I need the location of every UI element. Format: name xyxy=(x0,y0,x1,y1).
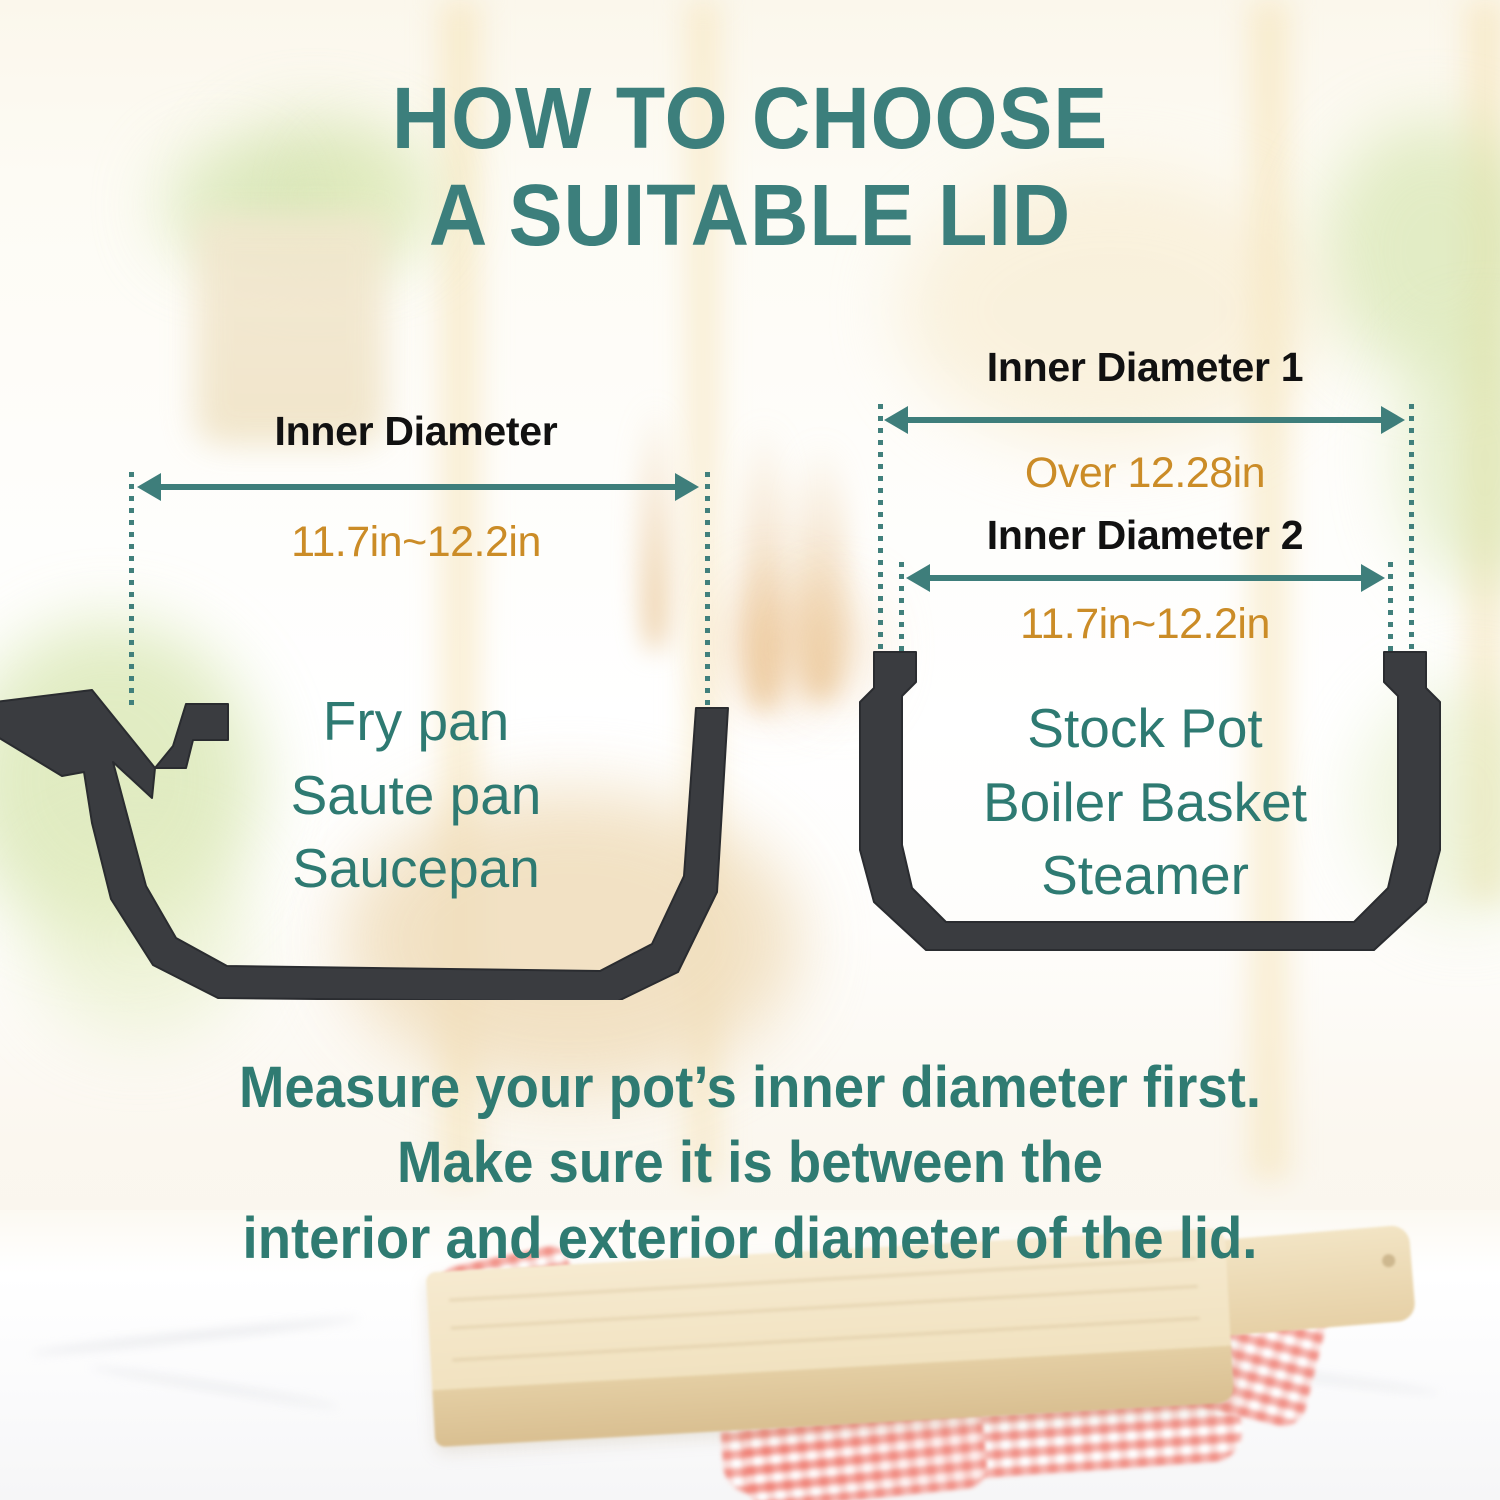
vessel-name: Stock Pot xyxy=(880,692,1410,766)
vessel-name: Saute pan xyxy=(0,759,832,833)
page-title: HOW TO CHOOSE A SUITABLE LID xyxy=(53,70,1448,265)
left-guide-line-end xyxy=(705,472,710,712)
right-dimension-value-1: Over 12.28in xyxy=(880,449,1410,498)
left-dimension-arrow xyxy=(159,484,677,490)
right-dimension-label-2: Inner Diameter 2 xyxy=(880,512,1410,559)
caption-line-2: Make sure it is between the xyxy=(45,1125,1455,1200)
title-line-2: A SUITABLE LID xyxy=(53,167,1448,264)
right-dimension-arrow-1 xyxy=(906,417,1383,423)
vessel-name: Boiler Basket xyxy=(880,766,1410,840)
vessel-name: Fry pan xyxy=(0,685,832,759)
right-vessel-names: Stock Pot Boiler Basket Steamer xyxy=(880,692,1410,913)
left-vessel-names: Fry pan Saute pan Saucepan xyxy=(0,685,832,906)
title-line-1: HOW TO CHOOSE xyxy=(392,70,1108,167)
instruction-caption: Measure your pot’s inner diameter first.… xyxy=(45,1050,1455,1276)
left-guide-line-start xyxy=(129,472,134,712)
right-dimension-label-1: Inner Diameter 1 xyxy=(880,344,1410,391)
vessel-name: Saucepan xyxy=(0,832,832,906)
vessel-name: Steamer xyxy=(880,839,1410,913)
caption-line-1: Measure your pot’s inner diameter first. xyxy=(45,1050,1455,1125)
left-dimension-value: 11.7in~12.2in xyxy=(0,518,832,567)
infographic-canvas: HOW TO CHOOSE A SUITABLE LID Inner Diame… xyxy=(0,0,1500,1500)
left-dimension-label: Inner Diameter xyxy=(0,408,832,455)
caption-line-3: interior and exterior diameter of the li… xyxy=(45,1201,1455,1276)
right-dimension-arrow-2 xyxy=(928,575,1363,581)
